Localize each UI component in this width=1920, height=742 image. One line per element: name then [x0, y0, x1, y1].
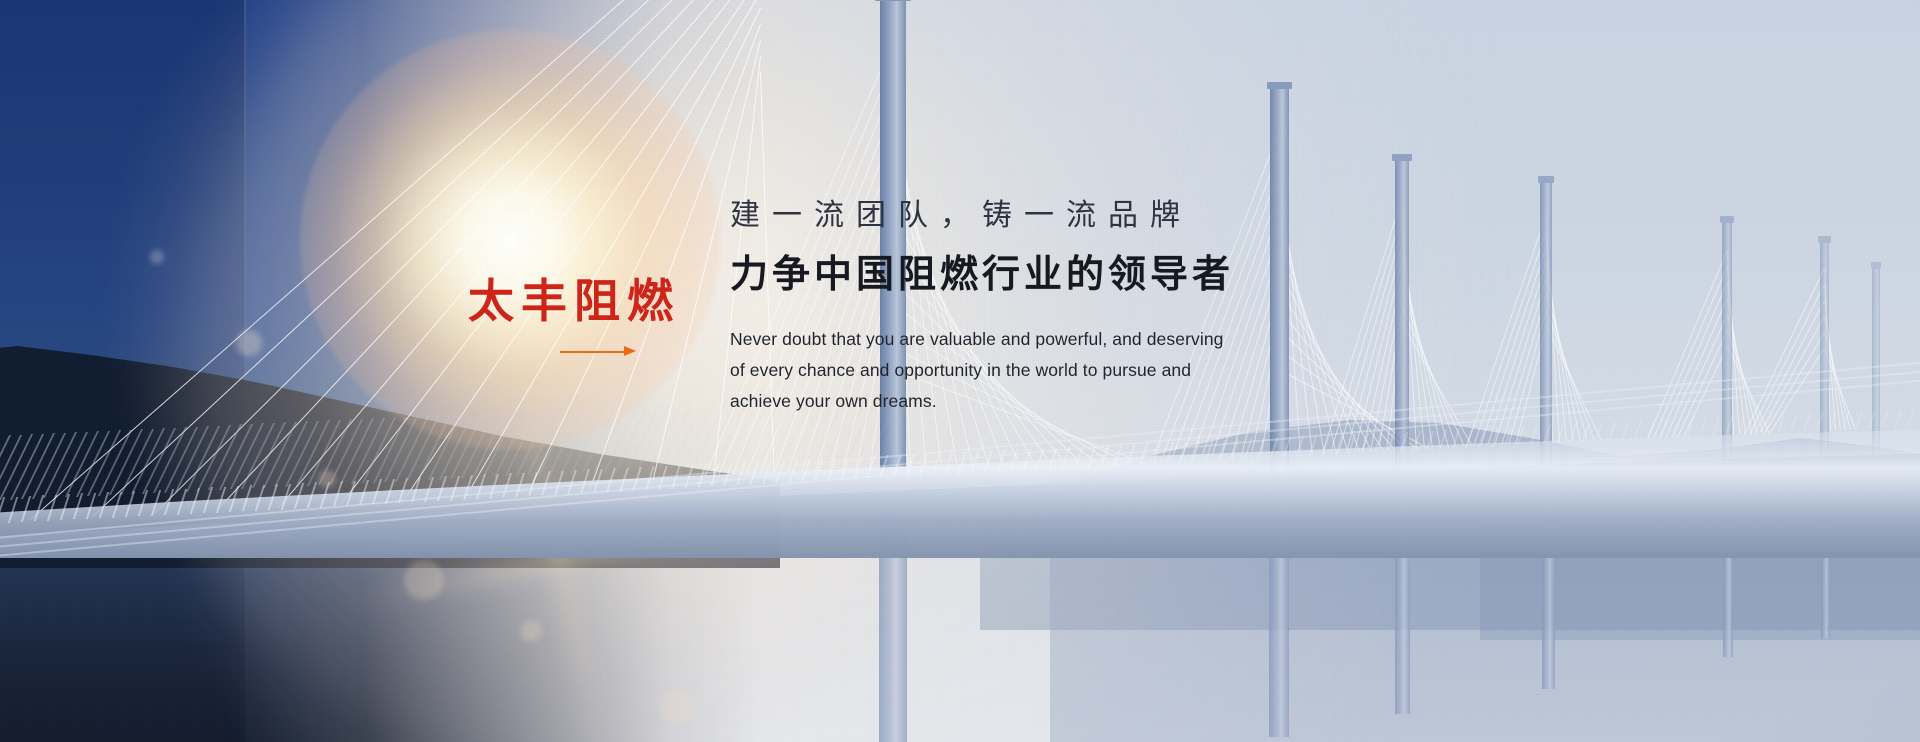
hero-subtitle: 建一流团队，铸一流品牌	[730, 196, 1234, 237]
hero-copy: 建一流团队，铸一流品牌 力争中国阻燃行业的领导者 Never doubt tha…	[730, 196, 1234, 417]
hero-title: 力争中国阻燃行业的领导者	[730, 247, 1234, 302]
hero-paragraph-line-3: achieve your own dreams.	[730, 386, 1234, 417]
arrow-head	[624, 346, 636, 356]
brand-logo-text: 太丰阻燃	[468, 278, 680, 324]
hero-paragraph: Never doubt that you are valuable and po…	[730, 324, 1234, 417]
hero-banner: 太丰阻燃 建一流团队，铸一流品牌 力争中国阻燃行业的领导者 Never doub…	[0, 0, 1920, 742]
hero-paragraph-line-1: Never doubt that you are valuable and po…	[730, 324, 1234, 355]
arrow-shaft	[560, 351, 630, 353]
right-arrow-icon	[560, 346, 636, 358]
brand-logo[interactable]: 太丰阻燃	[468, 278, 680, 358]
hero-paragraph-line-2: of every chance and opportunity in the w…	[730, 355, 1234, 386]
